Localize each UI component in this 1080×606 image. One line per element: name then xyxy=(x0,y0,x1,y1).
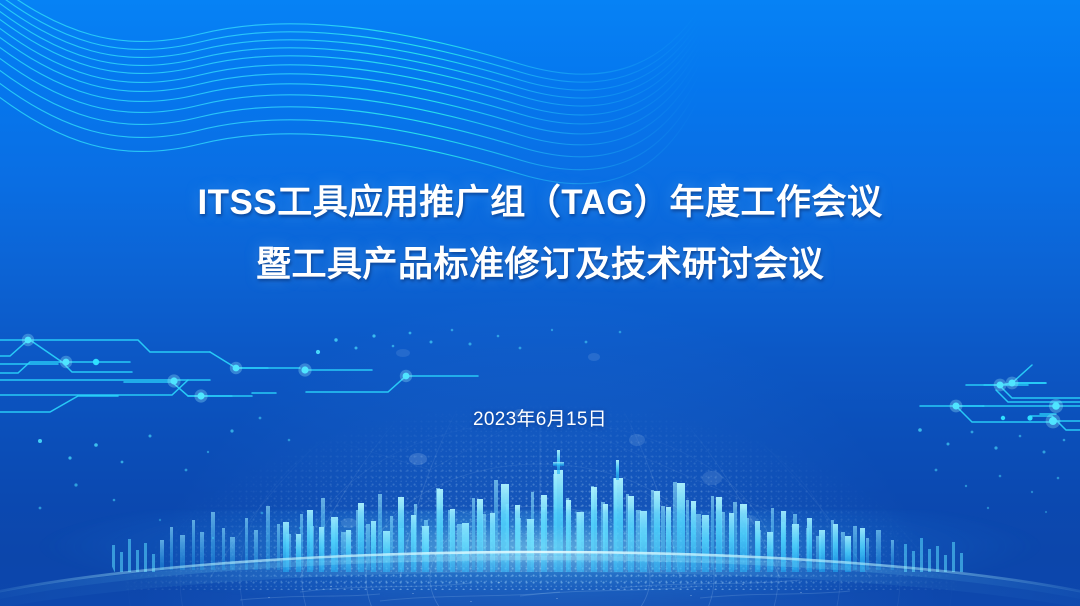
dome-network-lines xyxy=(200,350,800,560)
right-circuit-layer xyxy=(0,0,1080,606)
top-waves-layer xyxy=(0,0,1080,606)
ground-specks xyxy=(268,582,802,602)
date-text: 2023年6月15日 xyxy=(0,404,1080,431)
title-slide: ITSS工具应用推广组（TAG）年度工作会议 暨工具产品标准修订及技术研讨会议 … xyxy=(0,0,1080,606)
skyline-back xyxy=(160,474,894,570)
horizon-glow xyxy=(0,510,1080,606)
horizon-arc-soft xyxy=(0,557,1080,604)
left-circuit-layer xyxy=(0,0,1080,606)
skyline-front xyxy=(283,450,865,572)
left-circuit-node-glow xyxy=(22,334,412,403)
horizon-arc-layer xyxy=(0,0,1080,606)
left-circuit-nodes xyxy=(25,337,410,400)
title-line-2: 暨工具产品标准修订及技术研讨会议 xyxy=(0,234,1080,296)
dome-bokeh xyxy=(341,349,757,528)
particles-layer xyxy=(0,0,1080,606)
title-block: ITSS工具应用推广组（TAG）年度工作会议 暨工具产品标准修订及技术研讨会议 xyxy=(0,172,1080,296)
wave-line-group xyxy=(0,0,700,184)
dome-haze xyxy=(125,300,955,606)
title-line-1: ITSS工具应用推广组（TAG）年度工作会议 xyxy=(0,172,1080,234)
horizon-arc-wide xyxy=(0,564,1080,606)
skyline-flank-spikes xyxy=(112,538,963,572)
city-skyline-layer xyxy=(0,0,1080,606)
ground-texture-layer xyxy=(0,0,1080,606)
dome-longitude-lines xyxy=(140,300,940,578)
particle-dots xyxy=(38,329,1065,540)
ground-streaks xyxy=(240,580,850,601)
horizon-arc-main xyxy=(0,552,1080,600)
dome-latitude-lines xyxy=(128,304,952,606)
left-circuit-traces xyxy=(0,340,478,412)
dome-dot-field xyxy=(90,290,990,590)
dotted-globe-layer xyxy=(0,0,1080,606)
